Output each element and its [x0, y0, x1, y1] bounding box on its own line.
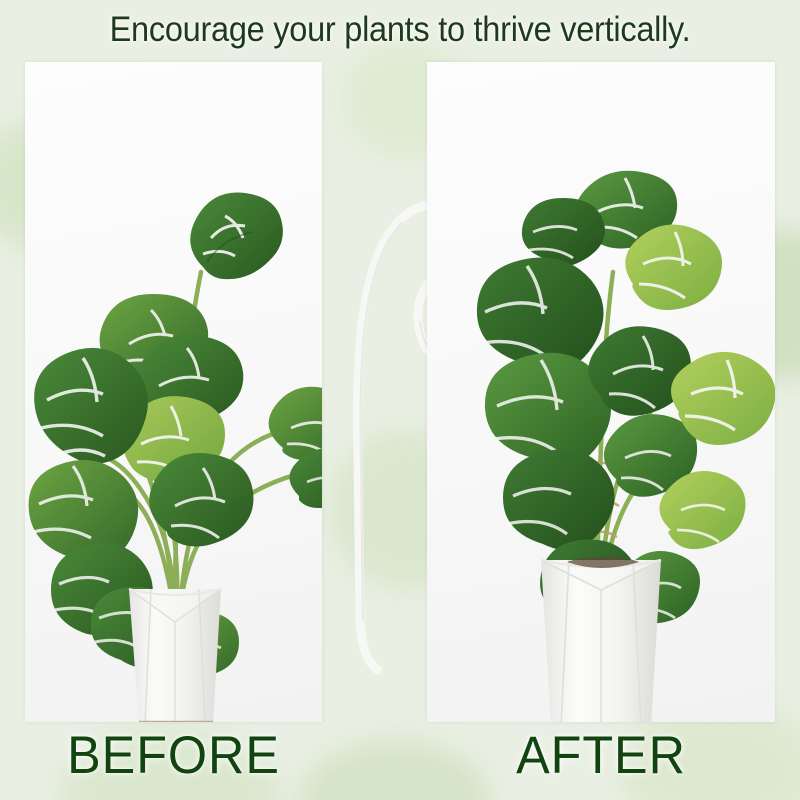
- faceted-planter-icon: [541, 557, 661, 722]
- monstera-leaf-icon: [522, 198, 605, 267]
- before-plant-illustration: [25, 62, 322, 722]
- faceted-planter-icon: [129, 589, 221, 722]
- label-before: BEFORE: [9, 728, 339, 784]
- monstera-leaf-icon: [34, 348, 148, 464]
- before-image-panel: [25, 62, 322, 722]
- after-plant-illustration: [427, 62, 775, 722]
- monstera-leaf-icon: [269, 387, 322, 460]
- after-image-panel: [427, 62, 775, 722]
- label-after: AFTER: [436, 728, 767, 784]
- monstera-leaf-icon: [625, 225, 722, 310]
- monstera-leaf-icon: [29, 460, 139, 561]
- monstera-leaf-icon: [190, 193, 283, 280]
- page-title: Encourage your plants to thrive vertical…: [28, 8, 772, 52]
